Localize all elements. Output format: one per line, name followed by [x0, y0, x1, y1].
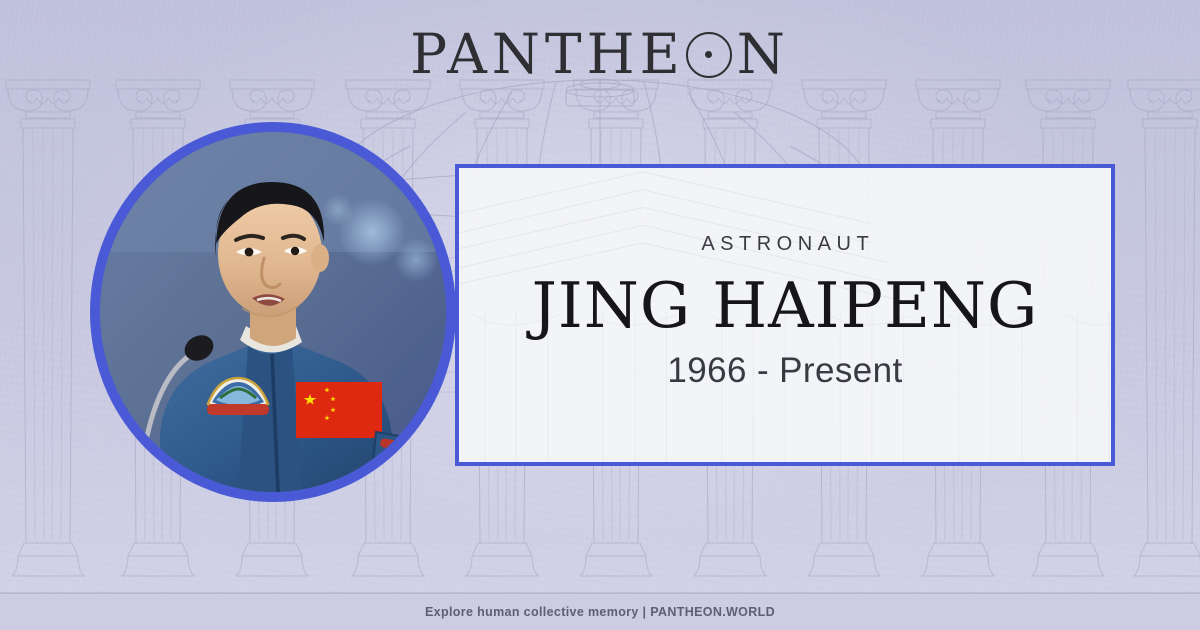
- profile-info-card: ASTRONAUT JING HAIPENG 1966 - Present: [455, 164, 1115, 466]
- wordmark-text-right: N: [737, 27, 790, 82]
- occupation-label: ASTRONAUT: [696, 233, 874, 256]
- wordmark-text-left: PANTHE: [410, 27, 685, 82]
- pantheon-profile-card: PANTHE N: [0, 0, 1200, 630]
- footer-tagline[interactable]: Explore human collective memory | PANTHE…: [0, 593, 1200, 630]
- dotted-circle-o-icon: [686, 32, 732, 78]
- pantheon-logo[interactable]: PANTHE N: [0, 27, 1200, 82]
- page-title: JING HAIPENG: [532, 274, 1039, 338]
- lifespan-label: 1966 - Present: [667, 351, 902, 391]
- avatar[interactable]: [90, 122, 456, 502]
- portrait-photo: [100, 132, 446, 492]
